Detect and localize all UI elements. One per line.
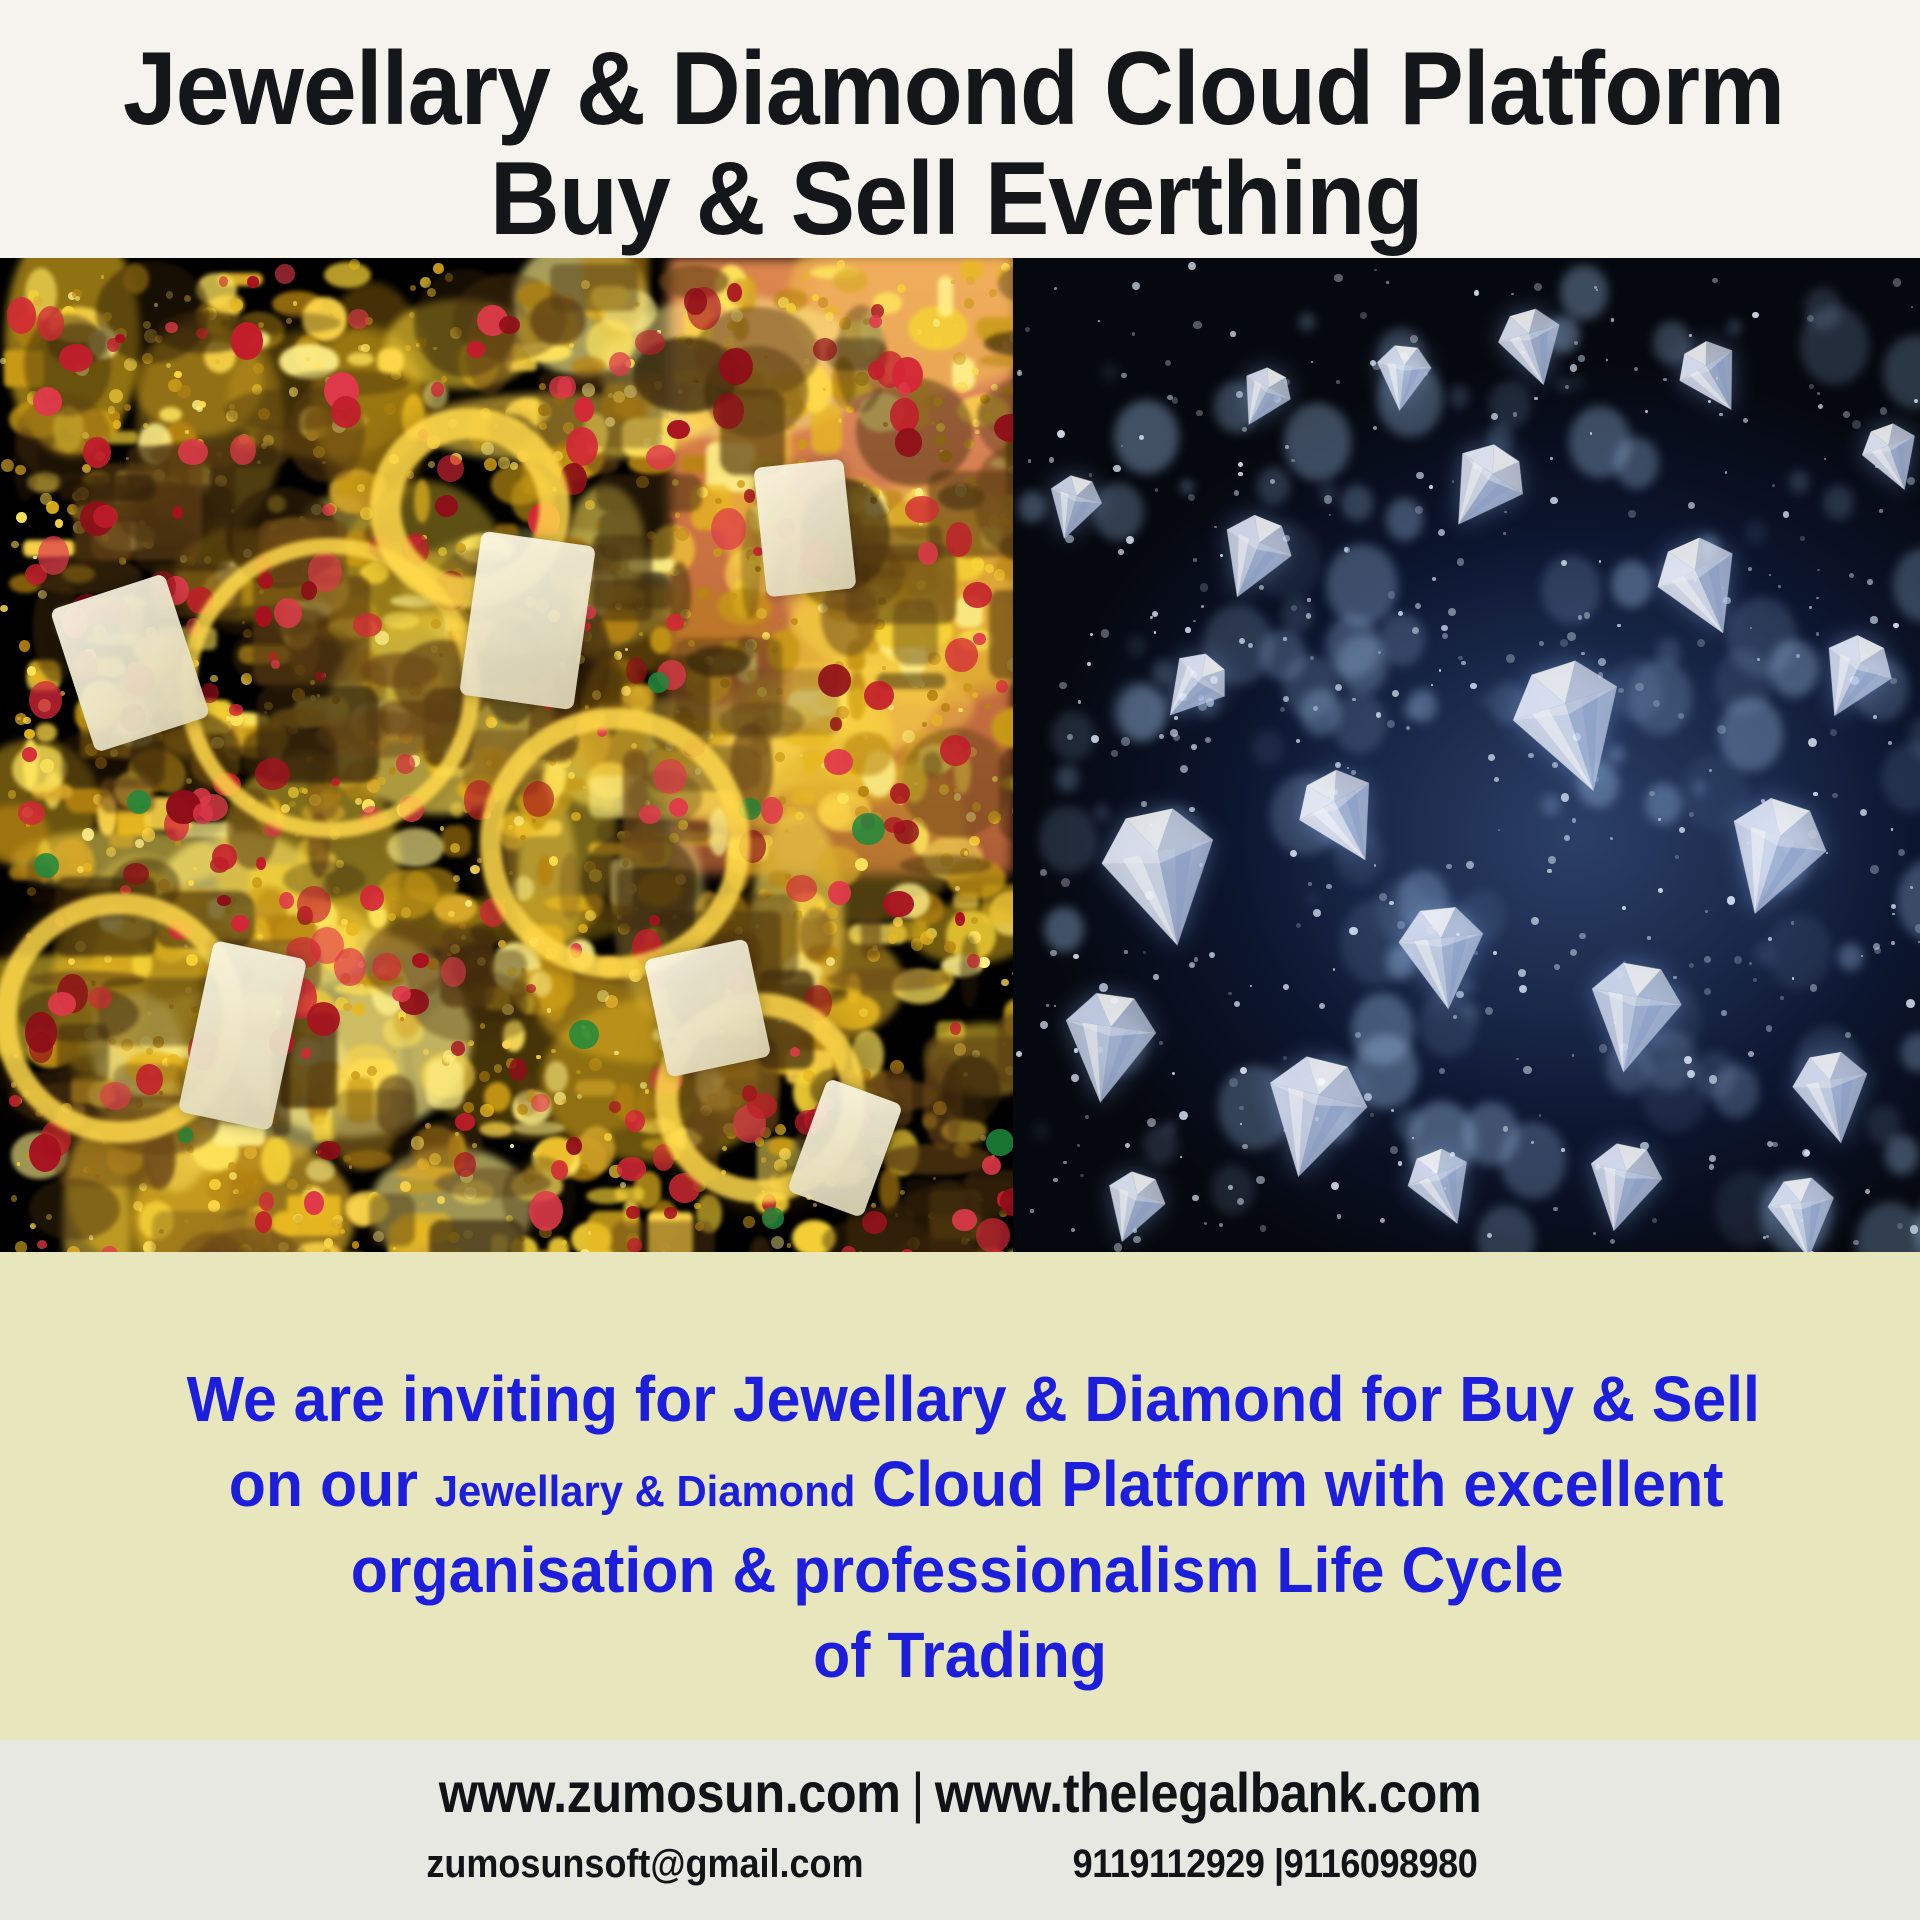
diamonds-photo <box>1013 258 1920 1252</box>
body-line-4: of Trading <box>48 1618 1872 1692</box>
body-line-2-prefix: on our <box>229 1448 435 1520</box>
header-band: Jewellary & Diamond Cloud Platform Buy &… <box>0 0 1920 258</box>
email-link[interactable]: zumosunsoft@gmail.com <box>330 1842 960 1887</box>
body-line-1: We are inviting for Jewellary & Diamond … <box>48 1362 1872 1436</box>
page-title-line-1: Jewellary & Diamond Cloud Platform <box>67 30 1853 149</box>
footer-websites-row: www.zumosun.com|www.thelegalbank.com <box>96 1760 1824 1825</box>
body-line-3: organisation & professionalism Life Cycl… <box>48 1533 1872 1607</box>
website-link-zumosun[interactable]: www.zumosun.com <box>439 1761 901 1824</box>
gold-jewellery-photo <box>0 258 1013 1252</box>
body-band: We are inviting for Jewellary & Diamond … <box>0 1252 1920 1740</box>
footer-contact-row: zumosunsoft@gmail.com9119112929 |9116098… <box>96 1842 1824 1887</box>
photo-band <box>0 258 1920 1252</box>
poster-canvas: Jewellary & Diamond Cloud Platform Buy &… <box>0 0 1920 1920</box>
page-title-line-2: Buy & Sell Everthing <box>67 140 1853 258</box>
footer-band: www.zumosun.com|www.thelegalbank.com zum… <box>0 1740 1920 1920</box>
footer-separator: | <box>901 1761 935 1824</box>
body-line-2-emphasis: Jewellary & Diamond <box>435 1467 855 1516</box>
body-line-2-suffix: Cloud Platform with excellent <box>855 1448 1723 1520</box>
body-line-2: on our Jewellary & Diamond Cloud Platfor… <box>48 1447 1872 1521</box>
phone-numbers[interactable]: 9119112929 |9116098980 <box>960 1842 1590 1887</box>
website-link-thelegalbank[interactable]: www.thelegalbank.com <box>935 1761 1481 1824</box>
